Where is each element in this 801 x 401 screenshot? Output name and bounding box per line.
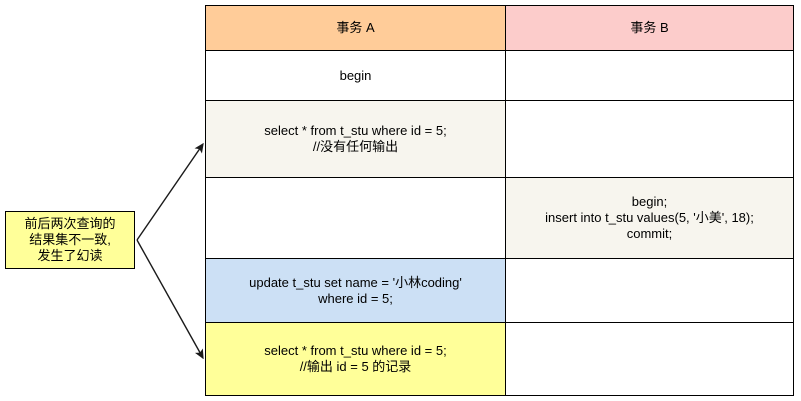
transaction-table-wrapper: 事务 A 事务 B begin select * from t_stu wher…	[205, 5, 793, 395]
cell-b-empty-2	[506, 101, 794, 178]
table-row: update t_stu set name = '小林coding' where…	[206, 259, 794, 323]
cell-a-select-output: select * from t_stu where id = 5; //输出 i…	[206, 323, 506, 396]
table-row: begin; insert into t_stu values(5, '小美',…	[206, 178, 794, 259]
transaction-table: 事务 A 事务 B begin select * from t_stu wher…	[205, 5, 794, 396]
cell-line: select * from t_stu where id = 5;	[210, 343, 501, 359]
cell-b-empty-3	[506, 259, 794, 323]
annotation-note-line-2: 结果集不一致,	[29, 232, 111, 248]
cell-b-empty-1	[506, 51, 794, 101]
annotation-note: 前后两次查询的 结果集不一致, 发生了幻读	[5, 211, 135, 269]
cell-a-update: update t_stu set name = '小林coding' where…	[206, 259, 506, 323]
table-row: begin	[206, 51, 794, 101]
cell-line: update t_stu set name = '小林coding'	[210, 275, 501, 291]
cell-a-begin: begin	[206, 51, 506, 101]
cell-line: //输出 id = 5 的记录	[210, 359, 501, 375]
cell-line: begin	[210, 68, 501, 84]
cell-line: select * from t_stu where id = 5;	[210, 123, 501, 139]
table-header-row: 事务 A 事务 B	[206, 6, 794, 51]
table-row: select * from t_stu where id = 5; //输出 i…	[206, 323, 794, 396]
arrow-to-second-select	[137, 240, 203, 358]
cell-line: where id = 5;	[210, 291, 501, 307]
header-cell-transaction-a: 事务 A	[206, 6, 506, 51]
annotation-note-line-1: 前后两次查询的	[24, 216, 115, 232]
cell-line: commit;	[510, 226, 789, 242]
cell-a-empty-1	[206, 178, 506, 259]
cell-line: insert into t_stu values(5, '小美', 18);	[510, 210, 789, 226]
cell-line: begin;	[510, 194, 789, 210]
phantom-read-diagram: 前后两次查询的 结果集不一致, 发生了幻读 事务 A 事务 B	[0, 0, 801, 401]
table-row: select * from t_stu where id = 5; //没有任何…	[206, 101, 794, 178]
header-cell-transaction-b: 事务 B	[506, 6, 794, 51]
cell-a-select-empty: select * from t_stu where id = 5; //没有任何…	[206, 101, 506, 178]
cell-b-empty-4	[506, 323, 794, 396]
cell-line: //没有任何输出	[210, 139, 501, 155]
annotation-note-line-3: 发生了幻读	[37, 248, 102, 264]
cell-b-insert-commit: begin; insert into t_stu values(5, '小美',…	[506, 178, 794, 259]
arrow-to-first-select	[137, 144, 203, 240]
